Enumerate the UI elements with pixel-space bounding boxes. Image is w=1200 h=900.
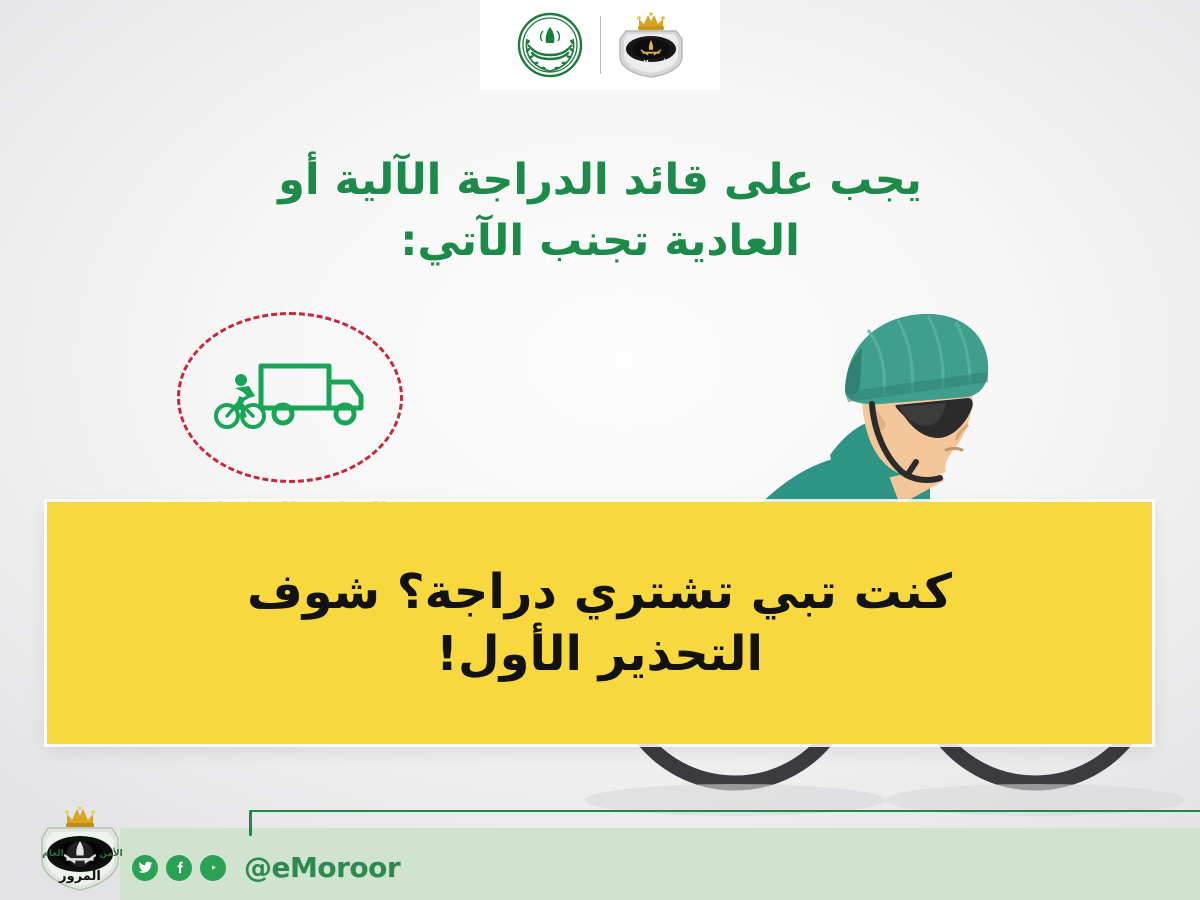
svg-text:العام: العام [42, 849, 64, 859]
footer-accent-line [250, 810, 1200, 852]
rule-item-clinging: التعلق بالمركبات [150, 312, 430, 525]
dashed-oval-border [177, 312, 403, 483]
poster-canvas: الأمن العام [0, 0, 1200, 900]
footer-band: الأمن العام المرور @eMoroor [0, 810, 1200, 900]
svg-text:المرور: المرور [58, 869, 101, 884]
svg-text:الأمن العام: الأمن العام [629, 58, 672, 68]
headline-line-2: العادية تجنب الآتي: [400, 216, 800, 266]
social-handle[interactable]: @eMoroor [244, 851, 400, 884]
traffic-police-emblem: الأمن العام المرور [28, 802, 132, 898]
svg-text:الأمن: الأمن [99, 847, 122, 859]
page-headline: يجب على قائد الدراجة الآلية أو العادية ت… [0, 150, 1200, 272]
emblem-divider [600, 16, 601, 74]
cyclist-holding-truck-icon [205, 352, 375, 444]
cyclist-head [830, 314, 988, 490]
official-emblems-bar: الأمن العام [480, 0, 720, 90]
social-links[interactable]: @eMoroor [132, 851, 400, 884]
ministry-of-interior-seal-emblem [504, 7, 596, 83]
facebook-icon[interactable] [166, 855, 192, 881]
banner-line-2: التحذير الأول! [87, 623, 1112, 685]
twitter-icon[interactable] [132, 855, 158, 881]
banner-line-1: كنت تبي تشتري دراجة؟ شوف [247, 564, 952, 620]
youtube-icon[interactable] [200, 855, 226, 881]
yellow-callout-banner: كنت تبي تشتري دراجة؟ شوف التحذير الأول! [47, 502, 1152, 744]
banner-text: كنت تبي تشتري دراجة؟ شوف التحذير الأول! [47, 561, 1152, 686]
headline-line-1: يجب على قائد الدراجة الآلية أو [278, 155, 922, 205]
public-security-shield-emblem: الأمن العام [605, 7, 697, 83]
